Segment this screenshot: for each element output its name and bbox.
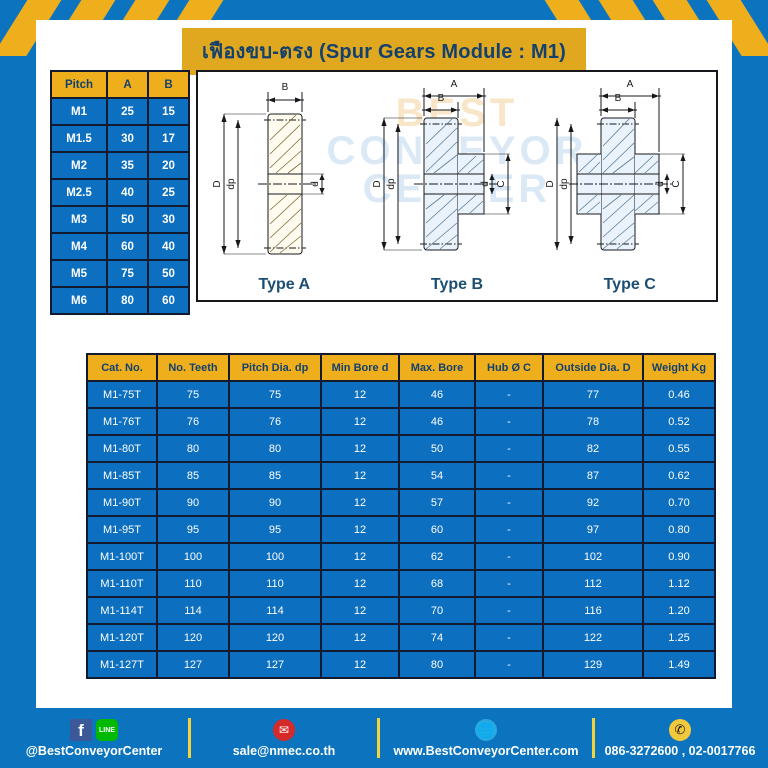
dim-label-d-bore: d xyxy=(480,181,491,187)
spec-cell: - xyxy=(476,517,542,542)
spec-cell: 92 xyxy=(544,490,642,515)
spec-cell: 129 xyxy=(544,652,642,677)
spec-cell: M1-127T xyxy=(88,652,156,677)
pitch-cell: 15 xyxy=(149,99,188,124)
spec-cell: 12 xyxy=(322,598,398,623)
spec-cell: 57 xyxy=(400,490,474,515)
diagram-label-type-a: Type A xyxy=(198,276,371,294)
spec-cell: 0.80 xyxy=(644,517,714,542)
pitch-cell: M1 xyxy=(52,99,106,124)
table-row: M1-114T1141141270-1161.20 xyxy=(88,598,714,623)
page-title-container: เฟืองขบ-ตรง (Spur Gears Module : M1) xyxy=(36,28,732,75)
spec-cell: 75 xyxy=(230,382,320,407)
table-row: M1-80T80801250-820.55 xyxy=(88,436,714,461)
table-row: M1-110T1101101268-1121.12 xyxy=(88,571,714,596)
spec-cell: 82 xyxy=(544,436,642,461)
spec-table: Cat. No.No. TeethPitch Dia. dpMin Bore d… xyxy=(86,353,716,679)
spec-cell: 70 xyxy=(400,598,474,623)
spec-cell: 127 xyxy=(158,652,228,677)
pitch-cell: 20 xyxy=(149,153,188,178)
pitch-cell: M5 xyxy=(52,261,106,286)
page-title: เฟืองขบ-ตรง (Spur Gears Module : M1) xyxy=(182,28,586,75)
spec-cell: 90 xyxy=(230,490,320,515)
spec-cell: 12 xyxy=(322,625,398,650)
spec-header-4: Max. Bore xyxy=(400,355,474,380)
pitch-header-a: A xyxy=(108,72,147,97)
email-icon[interactable]: ✉ xyxy=(273,719,295,741)
pitch-cell: 25 xyxy=(149,180,188,205)
pitch-cell: M3 xyxy=(52,207,106,232)
gear-type-a-drawing: B D dp d xyxy=(204,78,364,278)
pitch-table-row: M57550 xyxy=(52,261,188,286)
spec-cell: M1-75T xyxy=(88,382,156,407)
spec-cell: M1-76T xyxy=(88,409,156,434)
footer-social-icons: f LINE xyxy=(70,718,118,742)
pitch-table-body: M12515M1.53017M23520M2.54025M35030M46040… xyxy=(52,99,188,313)
spec-cell: 1.49 xyxy=(644,652,714,677)
spec-cell: 54 xyxy=(400,463,474,488)
spec-cell: 102 xyxy=(544,544,642,569)
dim-label-a: A xyxy=(451,79,458,90)
pitch-cell: 17 xyxy=(149,126,188,151)
spec-cell: M1-110T xyxy=(88,571,156,596)
footer-website[interactable]: 🌐 www.BestConveyorCenter.com xyxy=(380,718,592,758)
spec-header-7: Weight Kg xyxy=(644,355,714,380)
dim-label-c-hub: C xyxy=(496,180,507,187)
pitch-header-pitch: Pitch xyxy=(52,72,106,97)
pitch-table-container: Pitch A B M12515M1.53017M23520M2.54025M3… xyxy=(50,70,190,315)
spec-cell: - xyxy=(476,598,542,623)
dim-label-d-bore: d xyxy=(655,181,666,187)
spec-cell: 80 xyxy=(230,436,320,461)
spec-cell: M1-95T xyxy=(88,517,156,542)
contact-footer: f LINE @BestConveyorCenter ✉ sale@nmec.c… xyxy=(0,708,768,768)
spec-cell: M1-90T xyxy=(88,490,156,515)
pitch-cell: M4 xyxy=(52,234,106,259)
pitch-cell: 40 xyxy=(108,180,147,205)
spec-header-2: Pitch Dia. dp xyxy=(230,355,320,380)
pitch-table-row: M46040 xyxy=(52,234,188,259)
pitch-table-row: M1.53017 xyxy=(52,126,188,151)
table-row: M1-75T75751246-770.46 xyxy=(88,382,714,407)
spec-header-3: Min Bore d xyxy=(322,355,398,380)
spec-cell: 12 xyxy=(322,490,398,515)
table-row: M1-76T76761246-780.52 xyxy=(88,409,714,434)
spec-cell: - xyxy=(476,463,542,488)
document-panel: เฟืองขบ-ตรง (Spur Gears Module : M1) Pit… xyxy=(36,20,732,708)
dim-label-dp: dp xyxy=(386,178,397,190)
spec-cell: 12 xyxy=(322,544,398,569)
diagram-label-type-c: Type C xyxy=(543,276,716,294)
pitch-cell: M1.5 xyxy=(52,126,106,151)
spec-cell: - xyxy=(476,652,542,677)
footer-phone[interactable]: ✆ 086-3272600 , 02-0017766 xyxy=(595,718,765,758)
spec-cell: 78 xyxy=(544,409,642,434)
pitch-cell: 25 xyxy=(108,99,147,124)
spec-cell: 120 xyxy=(230,625,320,650)
table-row: M1-85T85851254-870.62 xyxy=(88,463,714,488)
spec-cell: 12 xyxy=(322,382,398,407)
spec-cell: 12 xyxy=(322,436,398,461)
spec-cell: 77 xyxy=(544,382,642,407)
spec-cell: 95 xyxy=(158,517,228,542)
spec-cell: - xyxy=(476,382,542,407)
footer-facebook-text: @BestConveyorCenter xyxy=(26,744,163,758)
spec-cell: 1.12 xyxy=(644,571,714,596)
spec-cell: 1.20 xyxy=(644,598,714,623)
spec-cell: 50 xyxy=(400,436,474,461)
line-icon[interactable]: LINE xyxy=(96,719,118,741)
pitch-cell: 35 xyxy=(108,153,147,178)
table-row: M1-127T1271271280-1291.49 xyxy=(88,652,714,677)
spec-header-6: Outside Dia. D xyxy=(544,355,642,380)
spec-cell: 76 xyxy=(230,409,320,434)
pitch-cell: 75 xyxy=(108,261,147,286)
pitch-cell: 60 xyxy=(108,234,147,259)
footer-website-icons: 🌐 xyxy=(475,718,497,742)
spec-cell: M1-120T xyxy=(88,625,156,650)
dim-label-d-bore: d xyxy=(310,181,321,187)
spec-header-5: Hub Ø C xyxy=(476,355,542,380)
pitch-cell: 40 xyxy=(149,234,188,259)
spec-cell: 114 xyxy=(230,598,320,623)
upper-section: Pitch A B M12515M1.53017M23520M2.54025M3… xyxy=(50,70,718,302)
spec-cell: 0.90 xyxy=(644,544,714,569)
dim-label-dp: dp xyxy=(559,178,570,190)
dim-label-d-outside: D xyxy=(372,180,383,187)
spec-cell: 100 xyxy=(158,544,228,569)
pitch-table-row: M2.54025 xyxy=(52,180,188,205)
pitch-header-b: B xyxy=(149,72,188,97)
spec-cell: 74 xyxy=(400,625,474,650)
spec-cell: M1-100T xyxy=(88,544,156,569)
spec-cell: 12 xyxy=(322,463,398,488)
spec-cell: 12 xyxy=(322,409,398,434)
footer-facebook[interactable]: f LINE @BestConveyorCenter xyxy=(0,718,188,758)
pitch-cell: 30 xyxy=(149,207,188,232)
spec-cell: 85 xyxy=(158,463,228,488)
spec-cell: 80 xyxy=(158,436,228,461)
spec-cell: 62 xyxy=(400,544,474,569)
footer-phone-text: 086-3272600 , 02-0017766 xyxy=(605,744,756,758)
spec-cell: 100 xyxy=(230,544,320,569)
spec-cell: 80 xyxy=(400,652,474,677)
spec-cell: 0.55 xyxy=(644,436,714,461)
spec-cell: 0.70 xyxy=(644,490,714,515)
gear-type-b-drawing: A B D dp d C xyxy=(372,78,542,278)
diagram-type-b: A B D dp d C Type B xyxy=(371,72,544,300)
dim-label-a: A xyxy=(626,79,633,90)
spec-cell: 0.52 xyxy=(644,409,714,434)
pitch-cell: 50 xyxy=(149,261,188,286)
spec-cell: - xyxy=(476,490,542,515)
table-row: M1-120T1201201274-1221.25 xyxy=(88,625,714,650)
spec-table-container: Cat. No.No. TeethPitch Dia. dpMin Bore d… xyxy=(86,353,686,679)
spec-cell: - xyxy=(476,436,542,461)
spec-cell: - xyxy=(476,625,542,650)
spec-cell: 76 xyxy=(158,409,228,434)
pitch-table-row: M12515 xyxy=(52,99,188,124)
spec-cell: 114 xyxy=(158,598,228,623)
footer-phone-icons: ✆ xyxy=(669,718,691,742)
spec-cell: - xyxy=(476,544,542,569)
spec-cell: 60 xyxy=(400,517,474,542)
spec-cell: - xyxy=(476,571,542,596)
spec-cell: 97 xyxy=(544,517,642,542)
pitch-cell: 50 xyxy=(108,207,147,232)
spec-header-0: Cat. No. xyxy=(88,355,156,380)
pitch-table: Pitch A B M12515M1.53017M23520M2.54025M3… xyxy=(50,70,190,315)
globe-icon[interactable]: 🌐 xyxy=(475,719,497,741)
footer-email-text: sale@nmec.co.th xyxy=(233,744,336,758)
table-row: M1-100T1001001262-1020.90 xyxy=(88,544,714,569)
spec-cell: M1-114T xyxy=(88,598,156,623)
pitch-cell: 30 xyxy=(108,126,147,151)
pitch-table-row: M35030 xyxy=(52,207,188,232)
dim-label-c-hub: C xyxy=(671,180,682,187)
pitch-table-header-row: Pitch A B xyxy=(52,72,188,97)
spec-cell: - xyxy=(476,409,542,434)
spec-table-header-row: Cat. No.No. TeethPitch Dia. dpMin Bore d… xyxy=(88,355,714,380)
pitch-table-row: M68060 xyxy=(52,288,188,313)
spec-cell: 110 xyxy=(158,571,228,596)
dim-label-d-outside: D xyxy=(212,180,223,187)
table-row: M1-90T90901257-920.70 xyxy=(88,490,714,515)
facebook-icon[interactable]: f xyxy=(70,719,92,741)
pitch-cell: 80 xyxy=(108,288,147,313)
footer-website-text: www.BestConveyorCenter.com xyxy=(393,744,578,758)
spec-cell: 87 xyxy=(544,463,642,488)
spec-cell: 110 xyxy=(230,571,320,596)
dim-label-dp: dp xyxy=(226,178,237,190)
spec-cell: 46 xyxy=(400,382,474,407)
spec-cell: 120 xyxy=(158,625,228,650)
spec-cell: 0.62 xyxy=(644,463,714,488)
footer-email[interactable]: ✉ sale@nmec.co.th xyxy=(191,718,377,758)
spec-table-body: M1-75T75751246-770.46M1-76T76761246-780.… xyxy=(88,382,714,677)
spec-cell: 90 xyxy=(158,490,228,515)
spec-cell: 75 xyxy=(158,382,228,407)
spec-cell: 12 xyxy=(322,517,398,542)
dim-label-b: B xyxy=(282,82,289,93)
spec-header-1: No. Teeth xyxy=(158,355,228,380)
pitch-table-row: M23520 xyxy=(52,153,188,178)
pitch-cell: M6 xyxy=(52,288,106,313)
pitch-cell: M2.5 xyxy=(52,180,106,205)
diagram-type-a: B D dp d Type A xyxy=(198,72,371,300)
spec-cell: 122 xyxy=(544,625,642,650)
table-row: M1-95T95951260-970.80 xyxy=(88,517,714,542)
spec-cell: M1-80T xyxy=(88,436,156,461)
spec-cell: 95 xyxy=(230,517,320,542)
dim-label-d-outside: D xyxy=(545,180,556,187)
footer-email-icons: ✉ xyxy=(273,718,295,742)
diagram-type-c: A B D dp d C Type C xyxy=(543,72,716,300)
spec-cell: 12 xyxy=(322,571,398,596)
spec-cell: 46 xyxy=(400,409,474,434)
spec-cell: 116 xyxy=(544,598,642,623)
pitch-cell: M2 xyxy=(52,153,106,178)
dim-label-b: B xyxy=(614,93,621,104)
spec-cell: 68 xyxy=(400,571,474,596)
gear-type-c-drawing: A B D dp d C xyxy=(545,78,715,278)
dim-label-b: B xyxy=(438,93,445,104)
spec-cell: M1-85T xyxy=(88,463,156,488)
diagram-label-type-b: Type B xyxy=(371,276,544,294)
spec-cell: 85 xyxy=(230,463,320,488)
spec-cell: 112 xyxy=(544,571,642,596)
phone-icon[interactable]: ✆ xyxy=(669,719,691,741)
diagram-row: B D dp d Type A xyxy=(198,72,716,300)
diagram-panel: BEST CONVEYOR CENTER xyxy=(196,70,718,302)
spec-cell: 127 xyxy=(230,652,320,677)
pitch-cell: 60 xyxy=(149,288,188,313)
spec-cell: 0.46 xyxy=(644,382,714,407)
spec-cell: 1.25 xyxy=(644,625,714,650)
spec-cell: 12 xyxy=(322,652,398,677)
